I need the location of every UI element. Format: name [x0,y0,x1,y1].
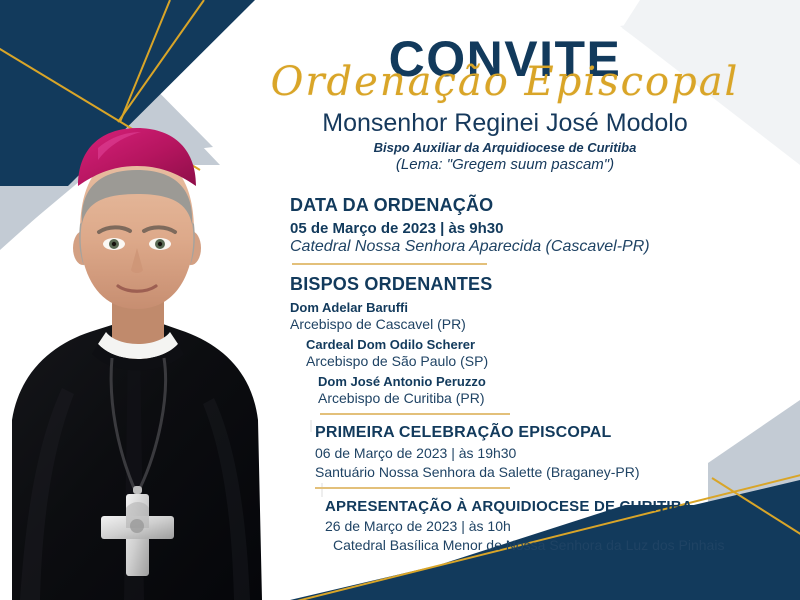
invitation-poster: CONVITE Ordenação Episcopal Monsenhor Re… [0,0,800,600]
cassock-placket [124,342,144,600]
gold-diagonal-top-left-a [0,43,200,170]
hair-side-left [79,222,84,266]
section-venue: Santuário Nossa Senhora da Salette (Brag… [315,464,800,480]
mouth [118,286,156,291]
gold-diagonal-top-left-b [120,0,170,122]
pupil-right [158,242,162,246]
nose [131,248,143,273]
iris-left [109,239,119,249]
section-heading: DATA DA ORDENAÇÃO [290,195,800,216]
ear-right [181,231,201,265]
neck [112,290,164,360]
zucchetto-highlight [98,132,141,160]
eyebrow-left [99,227,130,232]
cassock-fold-left [20,388,74,600]
ear-left [73,231,93,265]
section-datetime: 05 de Março de 2023 | às 9h30 [290,220,800,237]
section-venue: Catedral Nossa Senhora Aparecida (Cascav… [290,238,800,256]
pectoral-cross [101,486,174,576]
collar-shadow [92,344,184,371]
section-heading: PRIMEIRA CELEBRAÇÃO EPISCOPAL [315,424,800,442]
hair-side-right [190,222,195,266]
roman-collar [98,332,178,359]
list-item: Cardeal Dom Odilo Scherer Arcebispo de S… [306,337,800,369]
script-subtitle: Ordenação Episcopal [210,62,800,102]
gold-diagonal-top-left-c [120,2,172,123]
section-apresentacao: APRESENTAÇÃO À ARQUIDIOCESE DE CURITIBA … [210,498,800,553]
eye-right [149,238,171,250]
pupil-left [112,242,116,246]
navy-wedge-top-left [0,0,185,186]
section-heading: BISPOS ORDENANTES [290,274,800,295]
list-item: Dom José Antonio Peruzzo Arcebispo de Cu… [318,374,800,406]
section-datetime: 26 de Março de 2023 | às 10h [325,518,800,534]
hair [82,170,192,224]
bishop-name: Dom José Antonio Peruzzo [318,374,800,389]
section-data-da-ordenacao: DATA DA ORDENAÇÃO 05 de Março de 2023 | … [210,195,800,256]
bishop-see: Arcebispo de Cascavel (PR) [290,316,800,332]
bishop-see: Arcebispo de Curitiba (PR) [318,390,800,406]
divider-1 [292,263,487,265]
silver-wedge-top-left-2 [0,58,213,248]
pectoral-chain-left [111,358,134,488]
title-block: CONVITE Ordenação Episcopal Monsenhor Re… [210,0,800,173]
zucchetto [78,128,196,186]
section-primeira-celebracao: PRIMEIRA CELEBRAÇÃO EPISCOPAL 06 de Març… [210,424,800,480]
divider-2 [320,413,510,415]
section-datetime: 06 de Março de 2023 | às 19h30 [315,445,800,461]
iris-right [155,239,165,249]
bishop-see: Arcebispo de São Paulo (SP) [306,353,800,369]
silver-wedge-top-left [0,60,220,250]
list-item: Dom Adelar Baruffi Arcebispo de Cascavel… [290,300,800,332]
gold-diagonal-top-left-d [118,8,168,122]
sections-list: DATA DA ORDENAÇÃO 05 de Março de 2023 | … [210,195,800,553]
gold-diagonal-top-left-e [118,0,204,122]
person-motto: (Lema: "Gregem suum pascam") [210,156,800,173]
eyebrow-right [144,227,175,232]
face [80,154,194,309]
bishop-name: Dom Adelar Baruffi [290,300,800,315]
eye-left [103,238,125,250]
divider-3 [315,487,510,489]
section-heading: APRESENTAÇÃO À ARQUIDIOCESE DE CURITIBA [325,498,800,515]
person-name: Monsenhor Reginei José Modolo [210,110,800,138]
pectoral-chain-right [140,358,166,488]
bishop-name: Cardeal Dom Odilo Scherer [306,337,800,352]
invitation-content: CONVITE Ordenação Episcopal Monsenhor Re… [210,0,800,600]
section-bispos-ordenantes: BISPOS ORDENANTES Dom Adelar Baruffi Arc… [210,274,800,406]
section-venue: Catedral Basílica Menor de Nossa Senhora… [325,537,800,553]
person-role: Bispo Auxiliar da Arquidiocese de Curiti… [210,140,800,155]
